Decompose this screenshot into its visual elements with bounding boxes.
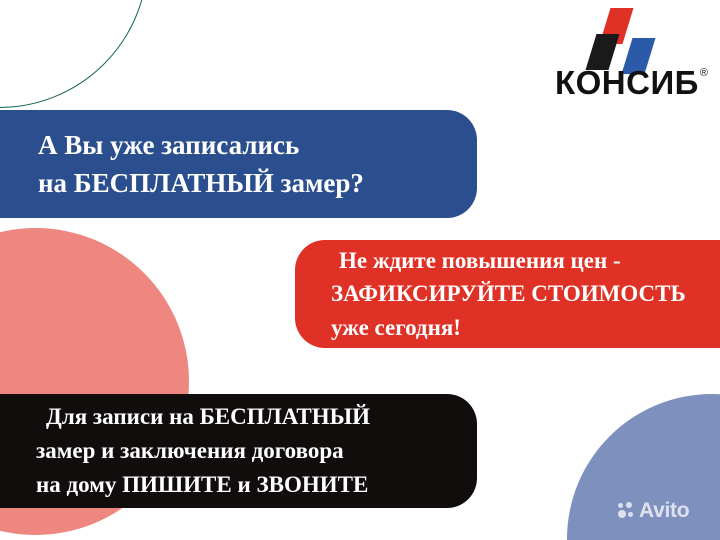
headline-black-line-1: Для записи на БЕСПЛАТНЫЙ: [36, 400, 477, 434]
brand-logo: КОНСИБ®: [537, 8, 707, 104]
headline-red-line-3: уже сегодня!: [331, 311, 720, 344]
headline-red-line-2: ЗАФИКСИРУЙТЕ СТОИМОСТЬ: [331, 277, 720, 310]
headline-red-line-1: Не ждите повышения цен -: [331, 244, 720, 277]
headline-banner-red: Не ждите повышения цен - ЗАФИКСИРУЙТЕ СТ…: [295, 240, 720, 348]
logo-mark-icon: [585, 8, 655, 70]
headline-black-line-3: на дому ПИШИТЕ и ЗВОНИТЕ: [36, 468, 477, 502]
headline-blue-line-1: А Вы уже записались: [38, 126, 477, 164]
brand-wordmark: КОНСИБ: [555, 64, 699, 101]
advertisement-poster: КОНСИБ® А Вы уже записались на БЕСПЛАТНЫ…: [0, 0, 720, 540]
brand-wordmark-row: КОНСИБ®: [537, 66, 707, 99]
decorative-green-circle-outline: [0, 0, 148, 108]
avito-wordmark: Avito: [639, 500, 689, 521]
headline-banner-blue: А Вы уже записались на БЕСПЛАТНЫЙ замер?: [0, 110, 477, 218]
headline-banner-black: Для записи на БЕСПЛАТНЫЙ замер и заключе…: [0, 394, 477, 508]
headline-blue-line-2: на БЕСПЛАТНЫЙ замер?: [38, 164, 477, 202]
registered-trademark-icon: ®: [700, 67, 708, 79]
avito-watermark: Avito: [618, 500, 689, 521]
avito-dots-icon: [618, 502, 635, 519]
headline-black-line-2: замер и заключения договора: [36, 434, 477, 468]
